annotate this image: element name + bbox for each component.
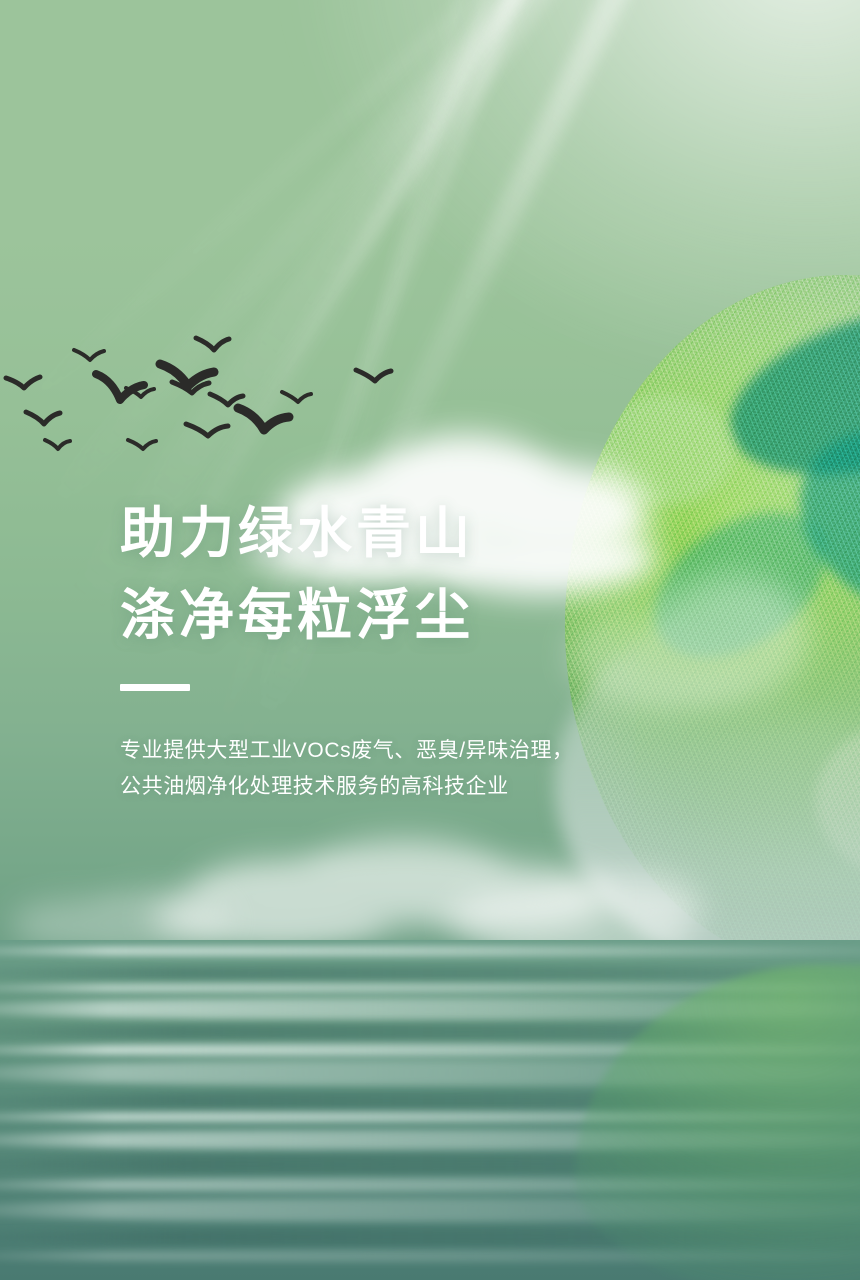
- subtitle-line-2: 公共油烟净化处理技术服务的高科技企业: [120, 769, 740, 805]
- subtitle-line-1: 专业提供大型工业VOCs废气、恶臭/异味治理，: [120, 733, 740, 769]
- page-title-line-2: 涤净每粒浮尘: [120, 574, 740, 656]
- hero-text-block: 助力绿水青山 涤净每粒浮尘 专业提供大型工业VOCs废气、恶臭/异味治理， 公共…: [120, 492, 740, 805]
- hero-poster: 助力绿水青山 涤净每粒浮尘 专业提供大型工业VOCs废气、恶臭/异味治理， 公共…: [0, 0, 860, 1280]
- page-title-line-1: 助力绿水青山: [120, 492, 740, 574]
- title-divider: [120, 684, 190, 691]
